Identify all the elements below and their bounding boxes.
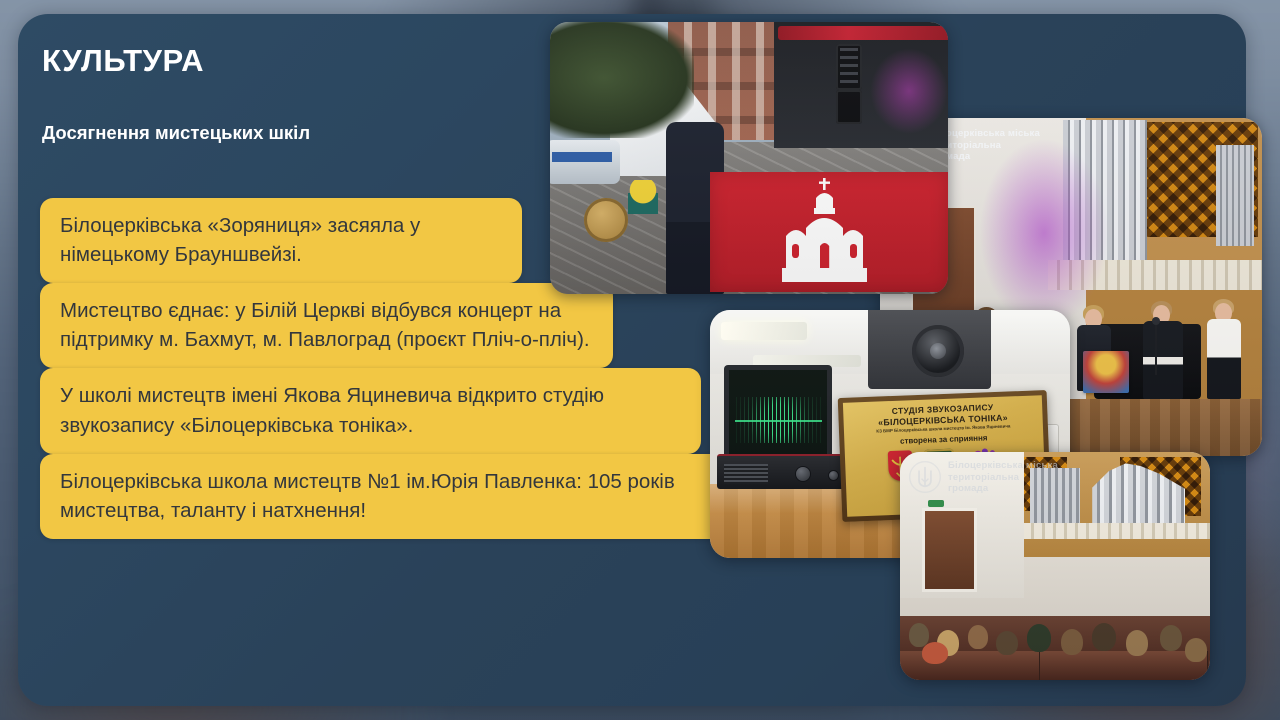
- audience-head: [1092, 623, 1116, 651]
- church-emblem-icon: [710, 172, 948, 292]
- seat-row: [1067, 651, 1096, 680]
- seat-row: [1040, 651, 1069, 680]
- gain-knob: [829, 471, 838, 480]
- pa-speaker-grill: [840, 48, 858, 86]
- bullet-item-2[interactable]: Мистецтво єднає: у Білій Церкві відбувся…: [40, 283, 613, 368]
- watermark: Білоцерківська міська територіальна гром…: [908, 460, 1058, 495]
- organ-pipes-secondary: [1216, 145, 1254, 246]
- plaque-line-4: створена за сприяння: [899, 434, 987, 446]
- photo-childrens-choir[interactable]: Білоцерківська міська територіальна гром…: [900, 452, 1210, 680]
- watermark-line-3: громада: [948, 483, 1058, 495]
- flower-bouquet: [628, 180, 658, 214]
- tree-foliage: [550, 22, 694, 138]
- outfit: [1207, 319, 1241, 399]
- audience-head: [1160, 625, 1182, 651]
- audience-head: [1185, 638, 1207, 662]
- tambourine-drum: [584, 198, 628, 242]
- audience-head: [1126, 630, 1148, 656]
- photo-folk-ensemble-flag[interactable]: [550, 22, 948, 294]
- exit-sign: [928, 500, 944, 507]
- seat-row: [1151, 651, 1180, 680]
- stage-magenta-lighting: [870, 48, 948, 134]
- audience-head: [1027, 624, 1051, 652]
- childrens-choir: [900, 548, 1210, 626]
- speaker-woofer: [912, 325, 964, 377]
- watermark-line-2: територіальна: [948, 472, 1058, 484]
- seat-row: [956, 651, 985, 680]
- audio-interface-grille: [724, 464, 767, 484]
- watermark-text: Білоцерківська міська територіальна гром…: [948, 460, 1058, 495]
- seat-row: [984, 651, 1013, 680]
- seat-row: [1012, 651, 1041, 680]
- microphone: [1155, 323, 1157, 375]
- seat-row: [1095, 651, 1124, 680]
- bila-tserkva-city-flag: [710, 172, 948, 292]
- audience-head: [909, 623, 929, 647]
- stage-roof-red-light: [778, 26, 948, 40]
- audience-seating: [900, 616, 1210, 680]
- painting-canvas-icon: [1083, 351, 1129, 393]
- audience-head: [968, 625, 988, 649]
- audience-head: [996, 631, 1018, 655]
- audience-head: [922, 642, 948, 664]
- outfit: [1143, 321, 1183, 399]
- pa-speaker-bottom: [836, 90, 862, 124]
- police-car: [550, 140, 620, 184]
- ceiling-light-1: [721, 322, 807, 339]
- watermark-line-1: Білоцерківська міська: [948, 460, 1058, 472]
- violet-stage-lighting: [979, 138, 1109, 327]
- bullet-item-3[interactable]: У школі мистецтв імені Якова Яциневича в…: [40, 368, 701, 453]
- audience-head: [1061, 629, 1083, 655]
- slide-canvas: КУЛЬТУРА Досягнення мистецьких шкіл Біло…: [0, 0, 1280, 720]
- bullet-item-1[interactable]: Білоцерківська «Зоряниця» засяяла у німе…: [40, 198, 522, 283]
- organ-balcony-railing: [1012, 523, 1210, 539]
- bullet-item-4[interactable]: Білоцерківська школа мистецтв №1 ім.Юрія…: [40, 454, 740, 539]
- community-emblem-icon: [908, 460, 942, 494]
- waveform-centre-line: [735, 420, 821, 422]
